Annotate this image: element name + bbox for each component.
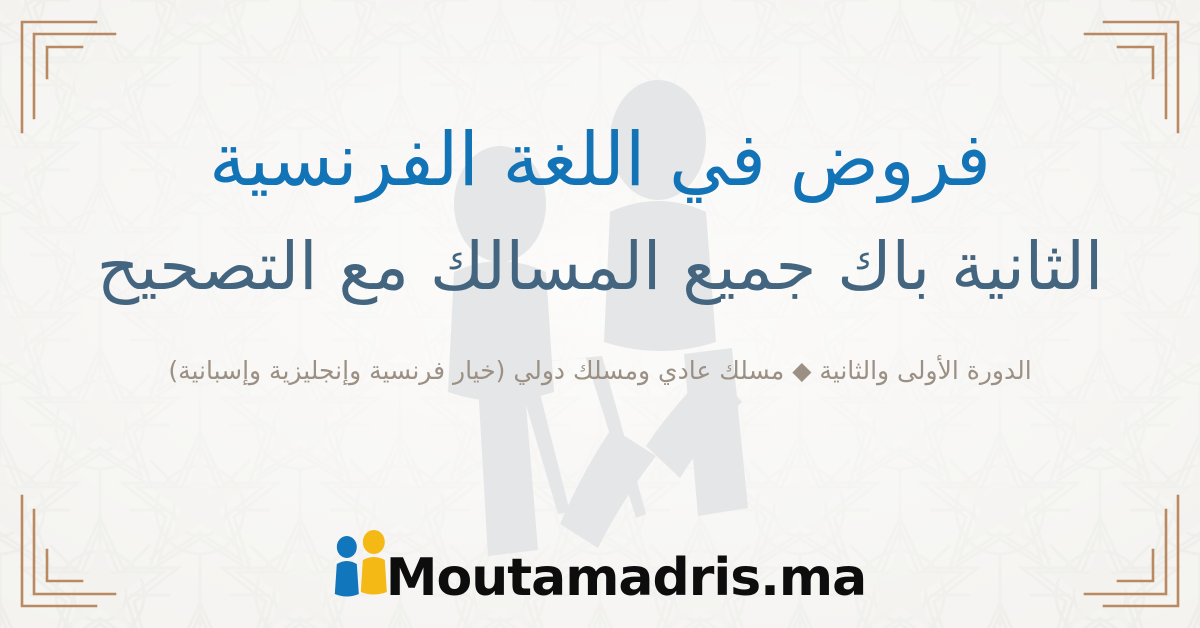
site-logo[interactable]: Moutamadris.ma bbox=[334, 530, 866, 602]
page-title-line-2: الثانية باك جميع المسالك مع التصحيح bbox=[0, 227, 1200, 306]
poster-canvas: فروض في اللغة الفرنسية الثانية باك جميع … bbox=[0, 0, 1200, 628]
page-title-line-1: فروض في اللغة الفرنسية bbox=[0, 118, 1200, 203]
subtitle-text: الدورة الأولى والثانية ◆ مسلك عادي ومسلك… bbox=[0, 354, 1200, 388]
site-logo-text: Moutamadris.ma bbox=[386, 552, 866, 604]
